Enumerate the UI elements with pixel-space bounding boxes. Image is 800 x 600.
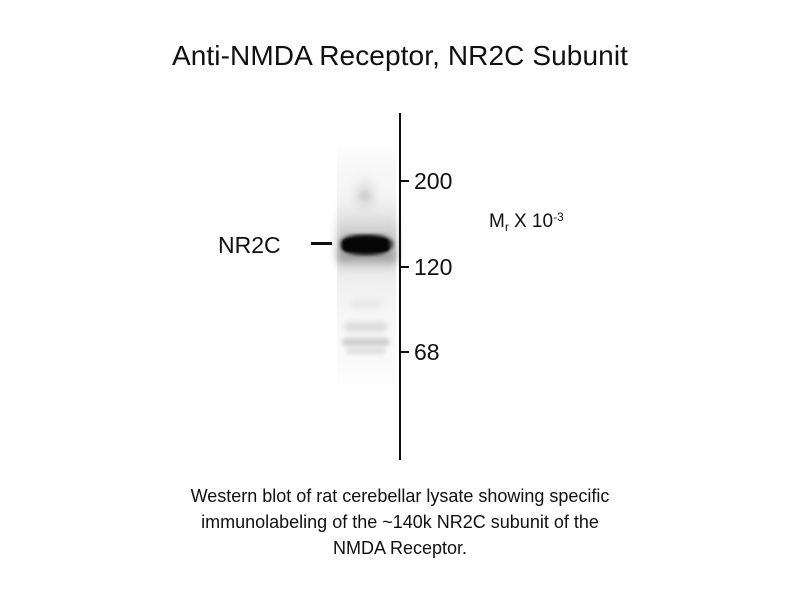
nr2c-pointer-dash (311, 242, 332, 245)
faint-band-c (346, 348, 386, 354)
tick-mark-200 (401, 180, 409, 182)
axis-line (399, 113, 401, 460)
tick-label-120: 120 (414, 254, 452, 281)
mr-operator: X 10 (514, 211, 553, 232)
faint-band-b (342, 338, 390, 346)
mr-superscript: -3 (553, 211, 563, 224)
tick-label-200: 200 (414, 168, 452, 195)
band-tail (338, 254, 396, 280)
caption-line-2: immunolabeling of the ~140k NR2C subunit… (100, 509, 700, 535)
nr2c-band-core (342, 238, 390, 252)
western-blot-figure: Anti-NMDA Receptor, NR2C Subunit NR2C 20… (0, 0, 800, 600)
tick-label-68: 68 (414, 339, 440, 366)
molecular-weight-unit-label: MrX 10-3 (489, 211, 564, 234)
caption-line-3: NMDA Receptor. (100, 535, 700, 561)
tick-mark-68 (401, 351, 409, 353)
faint-band-upper-mid (350, 300, 382, 308)
mr-base: M (489, 211, 505, 232)
caption-line-1: Western blot of rat cerebellar lysate sh… (100, 483, 700, 509)
figure-title: Anti-NMDA Receptor, NR2C Subunit (0, 40, 800, 72)
figure-caption: Western blot of rat cerebellar lysate sh… (100, 483, 700, 561)
nr2c-band-edge-nub (388, 238, 396, 250)
faint-band-a (344, 322, 388, 332)
nr2c-band-label: NR2C (218, 232, 281, 259)
tick-mark-120 (401, 266, 409, 268)
mr-subscript: r (505, 221, 509, 234)
